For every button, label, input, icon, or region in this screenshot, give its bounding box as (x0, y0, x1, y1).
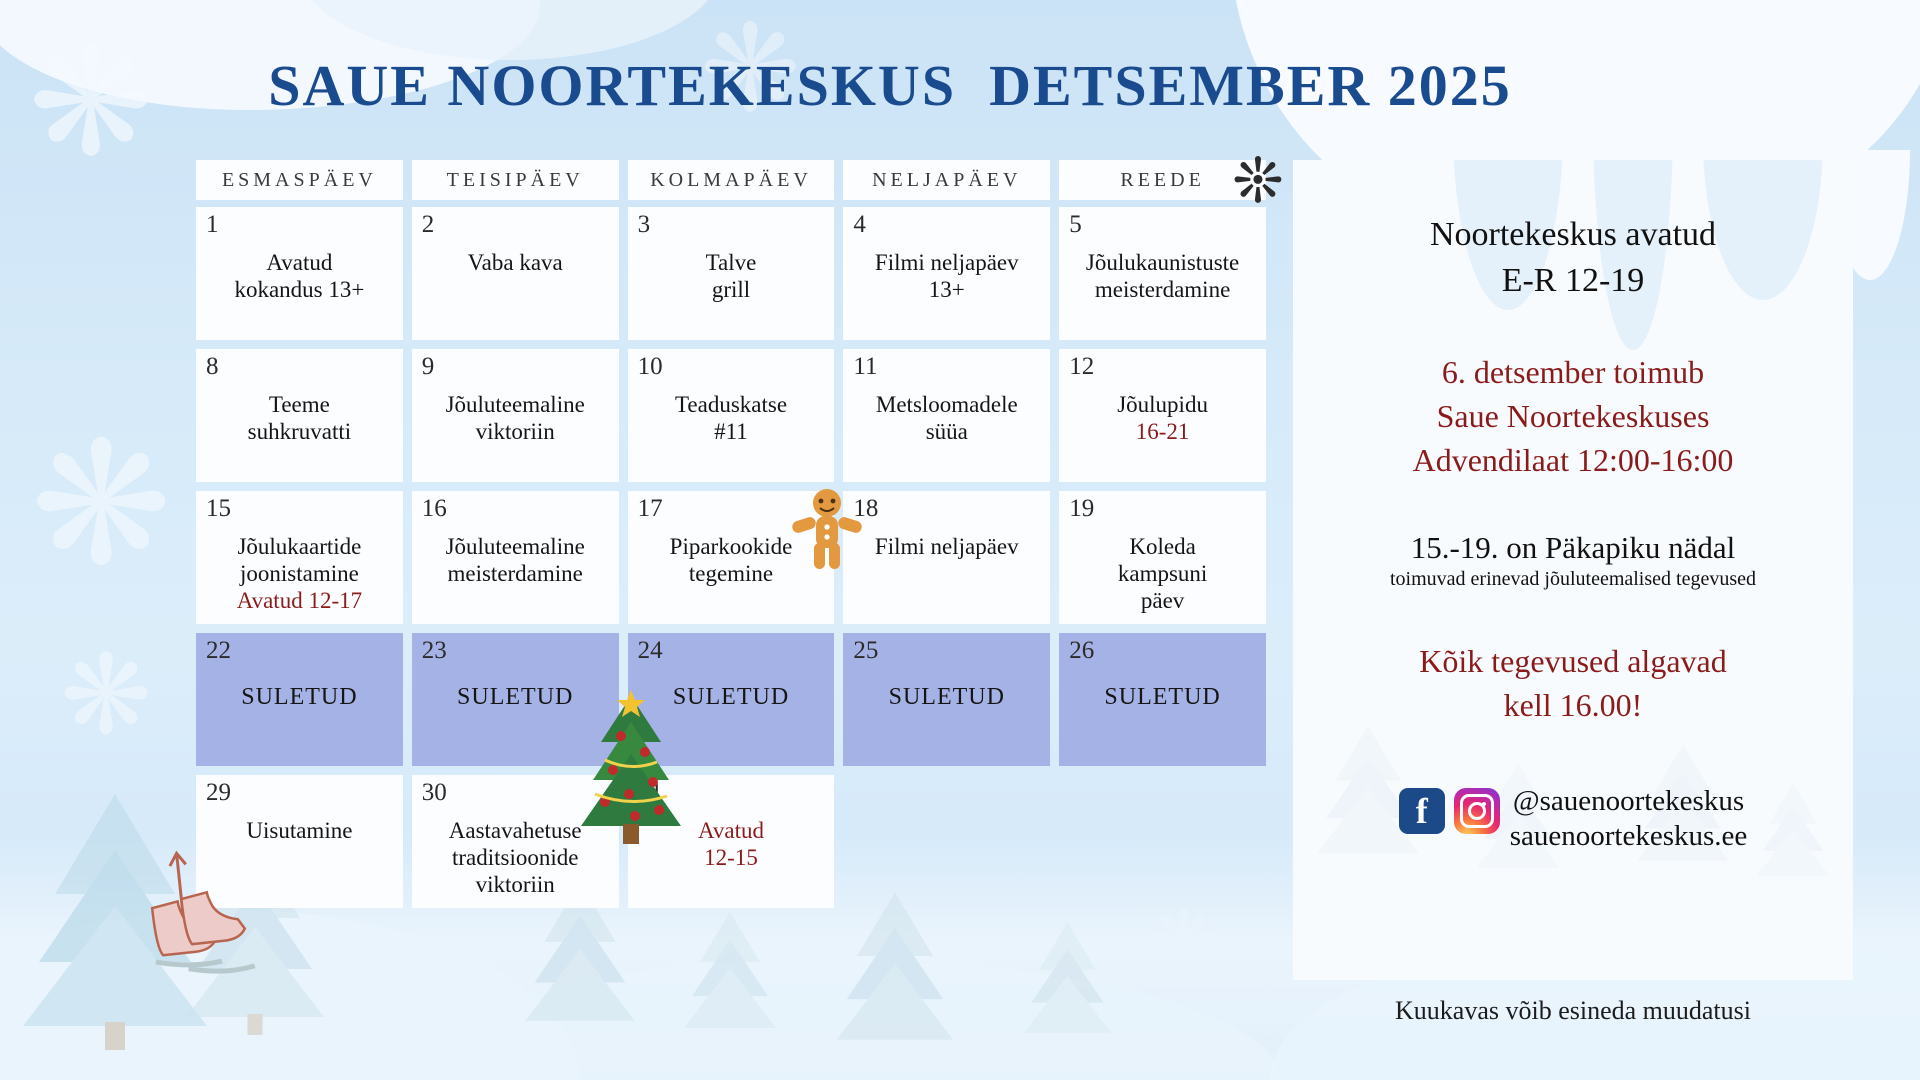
day-number: 9 (422, 353, 435, 381)
day-event-text: Teaduskatse#11 (636, 355, 827, 445)
instagram-icon[interactable] (1454, 788, 1500, 834)
activities-start-line1: Kõik tegevused algavad (1293, 639, 1853, 683)
day-event-text: SULETUD (204, 639, 395, 711)
day-number: 2 (422, 211, 435, 239)
day-number: 19 (1069, 495, 1094, 523)
calendar-day-cell[interactable]: 1Avatudkokandus 13+ (196, 207, 403, 340)
weekday-header-monday: ESMASPÄEV (196, 160, 403, 200)
calendar-cell-empty (843, 775, 1050, 908)
facebook-icon[interactable]: f (1399, 788, 1445, 834)
opening-hours-line2: E-R 12-19 (1293, 258, 1853, 304)
calendar-weeks: 1Avatudkokandus 13+2Vaba kava3Talvegrill… (196, 207, 1266, 908)
day-event-text: Jõulukaunistustemeisterdamine (1067, 213, 1258, 303)
event-line: viktoriin (420, 418, 611, 445)
calendar-day-cell[interactable]: 2Vaba kava (412, 207, 619, 340)
event-line: viktoriin (420, 871, 611, 898)
social-website[interactable]: sauenoortekeskus.ee (1510, 819, 1748, 854)
calendar-day-cell[interactable]: 16Jõuluteemalinemeisterdamine (412, 491, 619, 624)
calendar-day-cell[interactable]: 8Teemesuhkruvatti (196, 349, 403, 482)
calendar-week-row: 22SULETUD23SULETUD24SULETUD25SULETUD26SU… (196, 633, 1266, 766)
calendar-day-cell[interactable]: 5Jõulukaunistustemeisterdamine (1059, 207, 1266, 340)
instagram-square-shape (1460, 794, 1494, 828)
event-line: päev (1067, 587, 1258, 614)
day-event-text: Vaba kava (420, 213, 611, 276)
day-number: 23 (422, 637, 447, 665)
event-line: Filmi neljapäev (851, 249, 1042, 276)
ice-skates-sticker-icon (132, 839, 272, 1007)
pakapiku-week-block: 15.-19. on Päkapiku nädal toimuvad erine… (1293, 530, 1853, 591)
calendar-grid: ESMASPÄEV TEISIPÄEV KOLMAPÄEV NELJAPÄEV … (196, 160, 1266, 917)
weekday-header-thursday: NELJAPÄEV (843, 160, 1050, 200)
advent-market-block: 6. detsember toimub Saue Noortekeskuses … (1293, 350, 1853, 482)
calendar-day-cell[interactable]: 4Filmi neljapäev13+ (843, 207, 1050, 340)
day-number: 5 (1069, 211, 1082, 239)
page-title: SAUE NOORTEKESKUS DETSEMBER 2025 (0, 52, 1780, 119)
calendar-day-cell[interactable]: 9Jõuluteemalineviktoriin (412, 349, 619, 482)
disclaimer-text: Kuukavas võib esineda muudatusi (1293, 996, 1853, 1026)
day-event-text: Talvegrill (636, 213, 827, 303)
advent-line3: Advendilaat 12:00-16:00 (1293, 438, 1853, 482)
day-event-text: Metsloomadelesüüa (851, 355, 1042, 445)
event-line: SULETUD (851, 683, 1042, 711)
day-event-text: Jõuluteemalinemeisterdamine (420, 497, 611, 587)
day-event-text: Filmi neljapäev (851, 497, 1042, 560)
social-text: @sauenoortekeskus sauenoortekeskus.ee (1510, 784, 1748, 855)
event-line: #11 (636, 418, 827, 445)
calendar-day-cell[interactable]: 11Metsloomadelesüüa (843, 349, 1050, 482)
event-line: suhkruvatti (204, 418, 395, 445)
weekday-header-row: ESMASPÄEV TEISIPÄEV KOLMAPÄEV NELJAPÄEV … (196, 160, 1266, 200)
calendar-day-cell[interactable]: 10Teaduskatse#11 (628, 349, 835, 482)
event-line: SULETUD (1067, 683, 1258, 711)
weekday-header-tuesday: TEISIPÄEV (412, 160, 619, 200)
event-line: kokandus 13+ (204, 276, 395, 303)
day-number: 17 (638, 495, 663, 523)
social-links[interactable]: f @sauenoortekeskus sauenoortekeskus.ee (1293, 784, 1853, 855)
day-number: 30 (422, 779, 447, 807)
calendar-day-cell[interactable]: 19Koledakampsunipäev (1059, 491, 1266, 624)
event-line: Jõuluteemaline (420, 533, 611, 560)
day-number: 12 (1069, 353, 1094, 381)
day-number: 24 (638, 637, 663, 665)
day-number: 3 (638, 211, 651, 239)
pine-tree-icon (1020, 920, 1115, 1045)
day-event-text: Teemesuhkruvatti (204, 355, 395, 445)
calendar-day-cell[interactable]: 22SULETUD (196, 633, 403, 766)
calendar-day-cell[interactable]: 12Jõulupidu16-21 (1059, 349, 1266, 482)
snowflake-watermark: ❋ (60, 640, 152, 750)
day-event-text: Jõuluteemalineviktoriin (420, 355, 611, 445)
day-number: 4 (853, 211, 866, 239)
opening-hours-line1: Noortekeskus avatud (1293, 212, 1853, 258)
calendar-day-cell[interactable]: 3Talvegrill (628, 207, 835, 340)
event-line: süüa (851, 418, 1042, 445)
event-line: SULETUD (204, 683, 395, 711)
day-number: 8 (206, 353, 219, 381)
event-line: Vaba kava (420, 249, 611, 276)
instagram-dot-shape (1482, 802, 1486, 806)
social-handle[interactable]: @sauenoortekeskus (1510, 784, 1748, 819)
calendar-day-cell[interactable]: 26SULETUD (1059, 633, 1266, 766)
pine-tree-icon (680, 910, 780, 1040)
opening-hours-block: Noortekeskus avatud E-R 12-19 (1293, 212, 1853, 304)
event-line: Avatud (204, 249, 395, 276)
calendar-week-row: 29Uisutamine30Aastavahetusetraditsioonid… (196, 775, 1266, 908)
pakapiku-subtitle: toimuvad erinevad jõuluteemalised tegevu… (1293, 568, 1853, 591)
event-line: kampsuni (1067, 560, 1258, 587)
social-icon-group[interactable]: f (1399, 784, 1500, 834)
event-line: meisterdamine (1067, 276, 1258, 303)
snowflake-watermark: ❋ (30, 420, 172, 590)
day-number: 1 (206, 211, 219, 239)
event-line: Uisutamine (204, 817, 395, 844)
event-line: Talve (636, 249, 827, 276)
event-time-note: Avatud 12-17 (204, 587, 395, 614)
day-event-text: Avatudkokandus 13+ (204, 213, 395, 303)
activities-start-line2: kell 16.00! (1293, 683, 1853, 727)
event-line: Jõulukaartide (204, 533, 395, 560)
day-event-text: Jõulupidu16-21 (1067, 355, 1258, 445)
event-line: joonistamine (204, 560, 395, 587)
event-line: Koleda (1067, 533, 1258, 560)
day-number: 16 (422, 495, 447, 523)
calendar-day-cell[interactable]: 18Filmi neljapäev (843, 491, 1050, 624)
advent-line2: Saue Noortekeskuses (1293, 394, 1853, 438)
event-line: Filmi neljapäev (851, 533, 1042, 560)
calendar-week-row: 1Avatudkokandus 13+2Vaba kava3Talvegrill… (196, 207, 1266, 340)
activities-start-block: Kõik tegevused algavad kell 16.00! (1293, 639, 1853, 727)
day-number: 26 (1069, 637, 1094, 665)
event-line: Teeme (204, 391, 395, 418)
christmas-tree-sticker-icon (565, 690, 697, 868)
day-number: 25 (853, 637, 878, 665)
event-line: meisterdamine (420, 560, 611, 587)
day-event-text: Filmi neljapäev13+ (851, 213, 1042, 303)
event-line: Teaduskatse (636, 391, 827, 418)
event-line: Metsloomadele (851, 391, 1042, 418)
event-line: Jõuluteemaline (420, 391, 611, 418)
day-number: 15 (206, 495, 231, 523)
day-number: 22 (206, 637, 231, 665)
event-time-note: 16-21 (1067, 418, 1258, 445)
day-number: 11 (853, 353, 877, 381)
day-event-text: JõulukaartidejoonistamineAvatud 12-17 (204, 497, 395, 614)
day-event-text: SULETUD (1067, 639, 1258, 711)
snowflake-sticker-icon: ❊ (1232, 150, 1284, 212)
weekday-header-wednesday: KOLMAPÄEV (628, 160, 835, 200)
pakapiku-title: 15.-19. on Päkapiku nädal (1293, 530, 1853, 566)
event-line: 13+ (851, 276, 1042, 303)
calendar-day-cell[interactable]: 15JõulukaartidejoonistamineAvatud 12-17 (196, 491, 403, 624)
day-event-text: Koledakampsunipäev (1067, 497, 1258, 614)
advent-line1: 6. detsember toimub (1293, 350, 1853, 394)
day-event-text: Uisutamine (204, 781, 395, 844)
day-event-text: SULETUD (851, 639, 1042, 711)
event-line: Jõulukaunistuste (1067, 249, 1258, 276)
calendar-week-row: 8Teemesuhkruvatti9Jõuluteemalineviktorii… (196, 349, 1266, 482)
calendar-cell-empty (1059, 775, 1266, 908)
gingerbread-man-sticker-icon (790, 487, 864, 583)
calendar-week-row: 15JõulukaartidejoonistamineAvatud 12-171… (196, 491, 1266, 624)
event-line: Jõulupidu (1067, 391, 1258, 418)
day-number: 29 (206, 779, 231, 807)
event-line: grill (636, 276, 827, 303)
info-panel: Noortekeskus avatud E-R 12-19 6. detsemb… (1293, 160, 1853, 980)
day-number: 10 (638, 353, 663, 381)
calendar-day-cell[interactable]: 25SULETUD (843, 633, 1050, 766)
